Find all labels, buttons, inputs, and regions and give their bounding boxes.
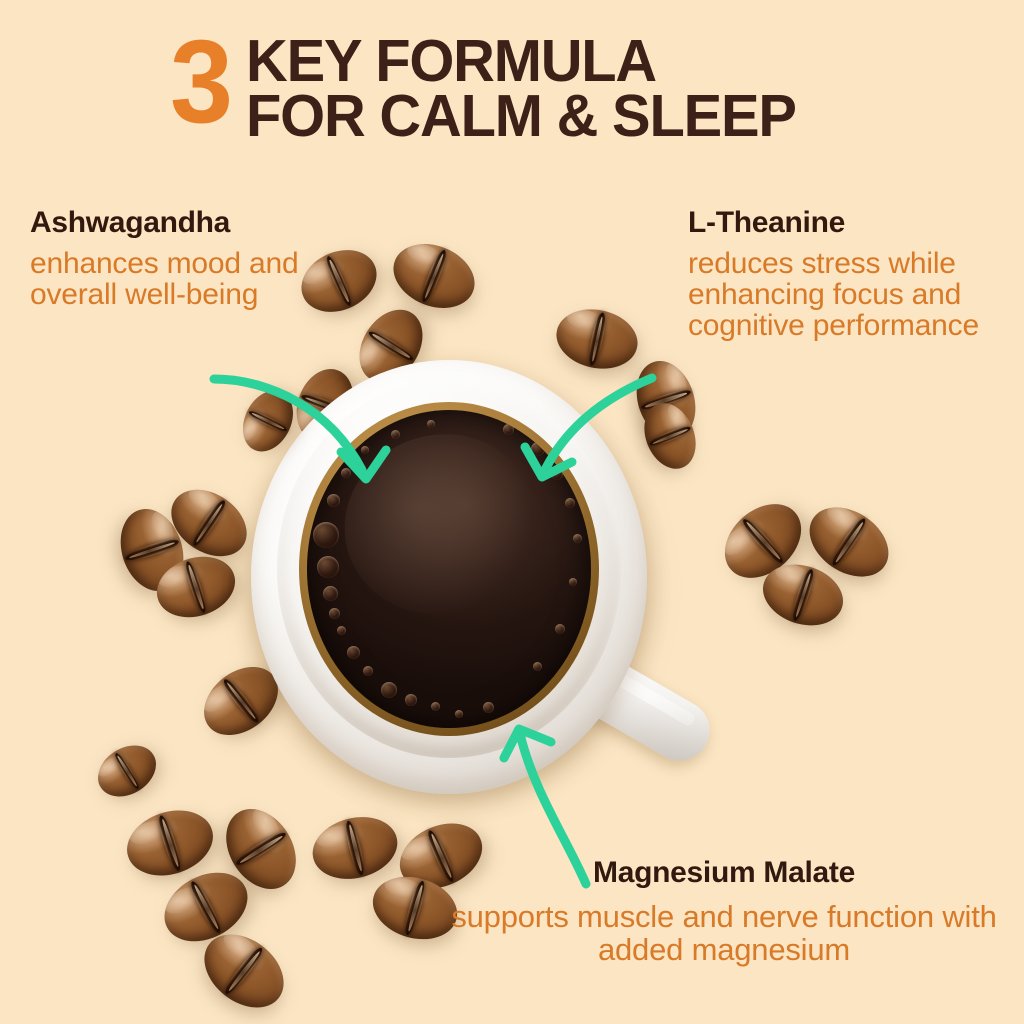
callout-magnesium-malate: Magnesium Malate supports muscle and ner… [444,856,1004,967]
title-line-1: KEY FORMULA [246,34,796,89]
callout-l-theanine-heading: L-Theanine [688,206,1008,240]
infographic-canvas: 3 KEY FORMULA FOR CALM & SLEEP Ashwagand… [0,0,1024,1024]
title-line-2: FOR CALM & SLEEP [246,89,796,144]
coffee-bean [384,232,484,319]
callout-l-theanine-body: reduces stress while enhancing focus and… [688,248,1008,342]
callout-l-theanine: L-Theanine reduces stress while enhancin… [688,206,1008,342]
coffee-bean [306,808,404,887]
title-number: 3 [170,28,229,137]
callout-magnesium-malate-heading: Magnesium Malate [444,856,1004,890]
callout-magnesium-malate-body: supports muscle and nerve function with … [444,900,1004,967]
callout-ashwagandha-heading: Ashwagandha [30,206,360,240]
title-block: 3 KEY FORMULA FOR CALM & SLEEP [170,28,930,145]
callout-ashwagandha: Ashwagandha enhances mood and overall we… [30,206,360,310]
coffee-bean [89,735,166,807]
coffee-cup [243,346,655,808]
callout-ashwagandha-body: enhances mood and overall well-being [30,248,360,310]
coffee-surface [307,410,591,728]
